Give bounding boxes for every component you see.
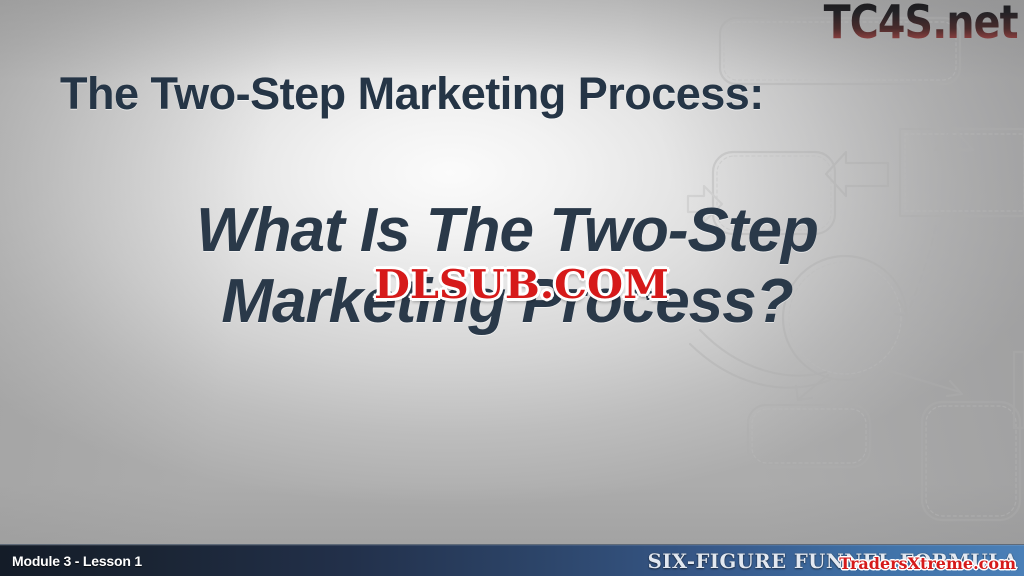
slide-title: The Two-Step Marketing Process: (60, 68, 764, 120)
tc4s-logo: TC4S.net (824, 0, 1018, 46)
tradersxtreme-watermark: TradersXtreme.com (839, 554, 1016, 573)
slide-canvas: TC4S.net The Two-Step Marketing Process:… (0, 0, 1024, 576)
module-lesson-label: Module 3 - Lesson 1 (12, 553, 142, 569)
question-line-1: What Is The Two-Step (60, 196, 954, 267)
dlsub-watermark: DLSUB.COM (374, 262, 669, 308)
